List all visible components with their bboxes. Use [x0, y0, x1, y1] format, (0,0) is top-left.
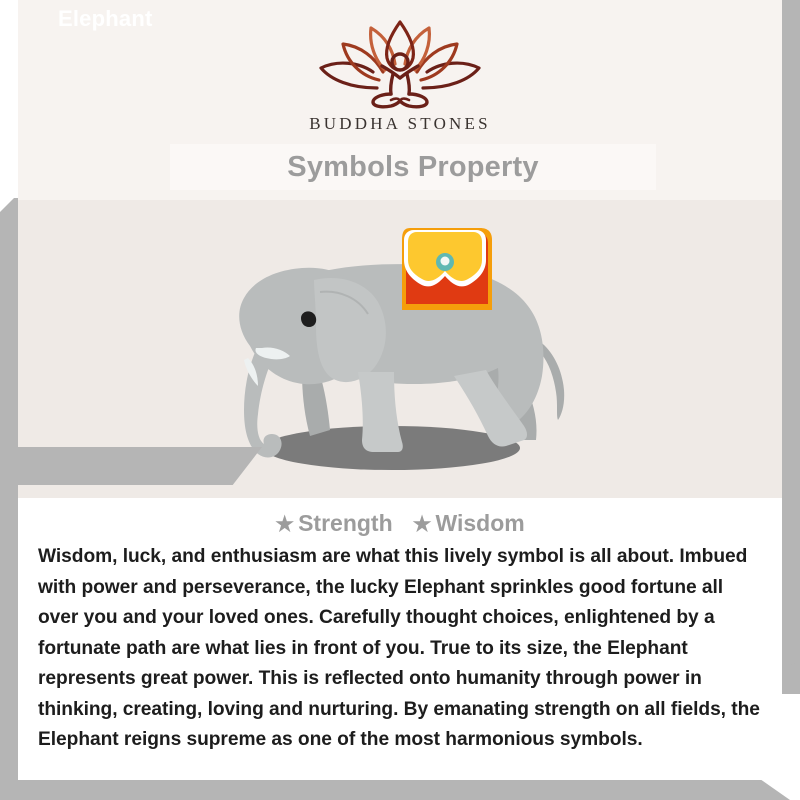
attribute-strength: ★Strength	[275, 510, 392, 537]
attribute-list: ★Strength★Wisdom	[18, 510, 782, 537]
lotus-meditation-icon	[315, 18, 485, 110]
elephant-near-fore-leg	[358, 372, 403, 452]
brand-name: BUDDHA STONES	[18, 114, 782, 134]
attribute-wisdom-label: Wisdom	[435, 510, 524, 536]
symbol-property-card: BUDDHA STONES Symbols Property	[0, 0, 800, 800]
attribute-strength-label: Strength	[298, 510, 393, 536]
symbol-description: Wisdom, luck, and enthusiasm are what th…	[38, 542, 766, 756]
star-icon: ★	[275, 513, 294, 536]
star-icon: ★	[413, 513, 432, 536]
saddle-gem-center	[441, 257, 450, 266]
page-title: Symbols Property	[170, 144, 656, 190]
symbol-name-tag	[18, 447, 262, 485]
page-title-band: Symbols Property	[170, 144, 656, 190]
attribute-wisdom: ★Wisdom	[413, 510, 525, 537]
symbol-name-label: Elephant	[58, 0, 153, 38]
description-panel: ★Strength★Wisdom Wisdom, luck, and enthu…	[18, 498, 782, 780]
